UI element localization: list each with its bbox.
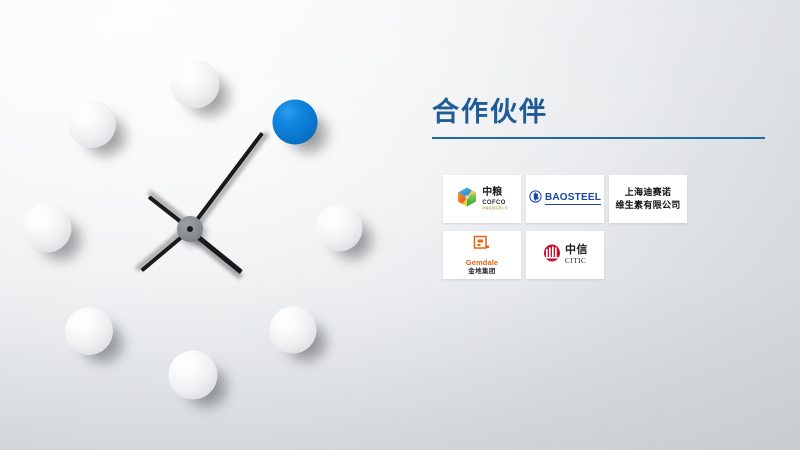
circle-emblem-icon: [529, 190, 542, 208]
partner-name-en: BAOSTEEL: [545, 193, 601, 205]
clock-marker-3: [316, 205, 363, 252]
partner-name-line1: 上海迪赛诺: [615, 186, 680, 199]
partner-logo-grid: 中粮 COFCO 中粮集团有限公司 BAOS: [443, 175, 765, 279]
clock-marker-11: [68, 100, 116, 148]
title-underline: [432, 137, 765, 139]
partners-panel: 合作伙伴: [430, 95, 770, 315]
clock-marker-1-accent: [273, 100, 318, 145]
partner-name-en: CITIC: [565, 258, 586, 265]
partner-name-cn: 金地集团: [468, 269, 496, 276]
red-oval-emblem-icon: [542, 243, 562, 268]
partner-name-en: COFCO: [482, 200, 506, 206]
clock-marker-7: [65, 307, 113, 355]
partner-name-en: Gemdale: [466, 259, 498, 267]
partner-card-cofco[interactable]: 中粮 COFCO 中粮集团有限公司: [443, 175, 521, 223]
clock-marker-12: [171, 60, 220, 109]
colorful-cube-icon: [456, 186, 478, 213]
partner-card-disino[interactable]: 上海迪赛诺 维生素有限公司: [609, 175, 687, 223]
clock-marker-5: [270, 307, 317, 354]
partner-name-cn: 中信: [565, 245, 588, 256]
logo-grid-empty-slot: [609, 231, 687, 279]
partner-card-baosteel[interactable]: BAOSTEEL: [526, 175, 604, 223]
clock-marker-6: [169, 351, 218, 400]
orange-square-icon: [473, 235, 490, 257]
wall-clock-image: [0, 0, 400, 450]
clock-marker-9: [23, 204, 72, 253]
partner-name-line2: 维生素有限公司: [615, 199, 680, 212]
partners-slide: 合作伙伴: [0, 0, 800, 450]
partner-card-gemdale[interactable]: Gemdale 金地集团: [443, 231, 521, 279]
partner-tagline: 中粮集团有限公司: [482, 207, 508, 210]
partner-name-cn: 中粮: [482, 188, 502, 198]
clock-center-pin: [187, 226, 193, 232]
partner-card-citic[interactable]: 中信 CITIC: [526, 231, 604, 279]
clock-minute-hand: [188, 132, 263, 230]
page-title: 合作伙伴: [432, 95, 548, 129]
